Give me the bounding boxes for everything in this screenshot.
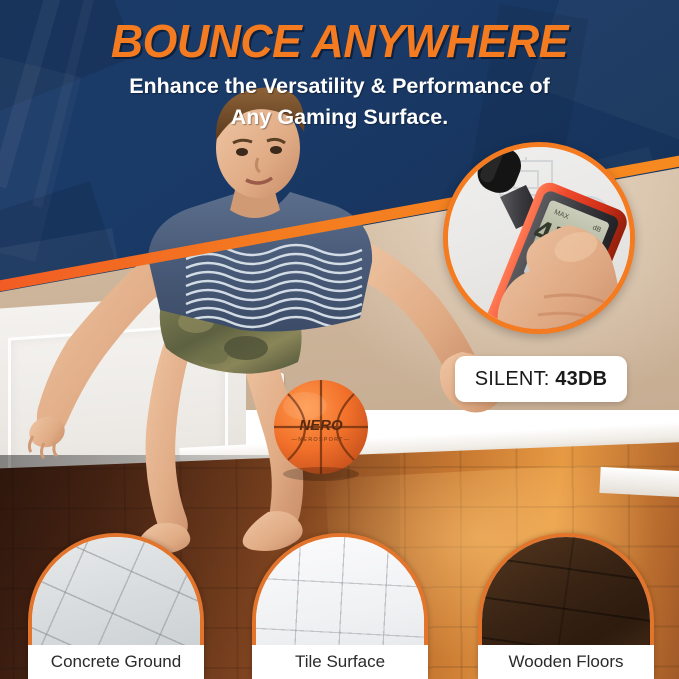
boy-eye-left [236,148,248,156]
surface-cards: Concrete Ground Tile Surface Wooden Floo… [0,529,679,679]
surface-card-wooden[interactable]: Wooden Floors [478,533,654,679]
surface-card-concrete[interactable]: Concrete Ground [28,533,204,679]
surface-card-label: Wooden Floors [509,652,624,672]
surface-card-caption: Concrete Ground [28,645,204,679]
surface-card-caption: Tile Surface [252,645,428,679]
surface-card-label: Concrete Ground [51,652,181,672]
surface-card-label: Tile Surface [295,652,385,672]
surface-card-tile[interactable]: Tile Surface [252,533,428,679]
status-badge: SILENT: 43DB [455,356,627,402]
basketball-brand-text: NERO [299,417,343,434]
product-marketing-image: BOUNCE ANYWHERE Enhance the Versatility … [0,0,679,679]
header-subtitle-line-1: Enhance the Versatility & Performance of [0,73,679,99]
silent-label-prefix: SILENT: [475,368,550,390]
sound-level-meter: MAX dB 43.0 [448,147,635,334]
magnifier-circle: MAX dB 43.0 [443,142,635,334]
silent-label-value: 43DB [555,368,607,390]
basketball-subbrand-text: —NEROSPORT— [292,437,351,443]
header-subtitle-line-2: Any Gaming Surface. [0,104,679,130]
surface-card-caption: Wooden Floors [478,645,654,679]
header-text-block: BOUNCE ANYWHERE Enhance the Versatility … [0,14,679,130]
boy-eye-right [270,146,282,154]
page-title: BOUNCE ANYWHERE [10,14,669,68]
silent-label-text: SILENT: 43DB [475,368,607,391]
